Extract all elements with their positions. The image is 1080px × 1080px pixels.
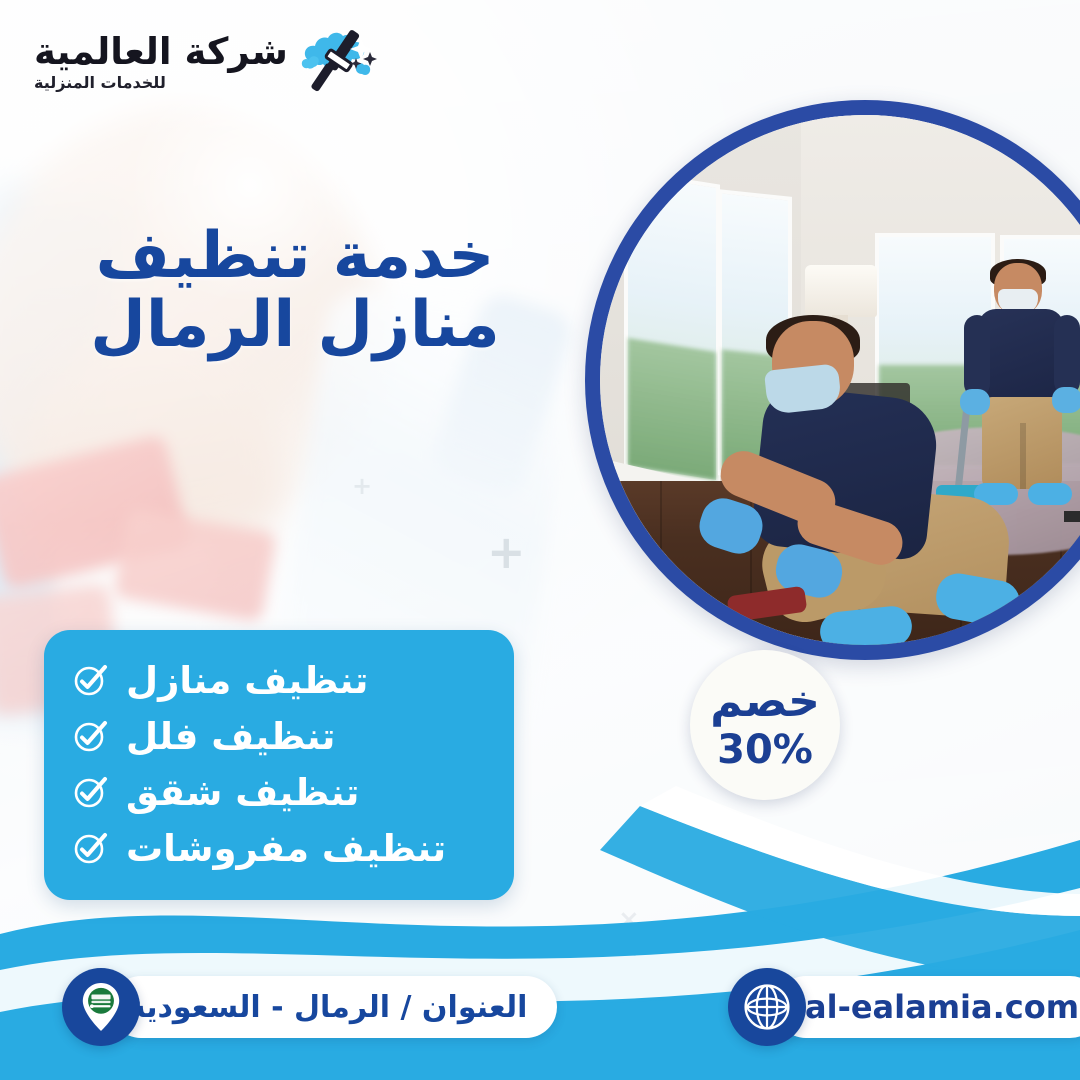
service-label: تنظيف شقق: [126, 771, 359, 814]
globe-icon: [728, 968, 806, 1046]
check-circle-icon: [72, 830, 108, 866]
service-label: تنظيف مفروشات: [126, 827, 446, 870]
website-text: al-ealamia.com: [805, 988, 1079, 1026]
decor-plus-mark: +: [487, 525, 526, 579]
logo-subtitle: للخدمات المنزلية: [34, 75, 166, 91]
headline-line-2: منازل الرمال: [85, 291, 505, 360]
check-circle-icon: [72, 774, 108, 810]
service-item: تنظيف شقق: [72, 764, 486, 820]
service-item: تنظيف فلل: [72, 708, 486, 764]
service-label: تنظيف منازل: [126, 659, 368, 702]
services-card: تنظيف منازل تنظيف فلل تنظيف شقق: [44, 630, 514, 900]
headline-line-1: خدمة تنظيف: [85, 222, 505, 291]
logo-title: شركة العالمية: [34, 33, 288, 70]
discount-label: خصم: [710, 680, 820, 724]
check-circle-icon: [72, 662, 108, 698]
decor-plus-mark-small: +: [352, 472, 372, 500]
squeegee-bubbles-icon: [298, 22, 384, 102]
address-text: العنوان / الرمال - السعودية: [128, 990, 527, 1025]
service-label: تنظيف فلل: [126, 715, 335, 758]
headline: خدمة تنظيف منازل الرمال: [85, 222, 505, 360]
saudi-flag-location-pin-icon: [62, 968, 140, 1046]
worker-kneeling: [700, 315, 1030, 645]
hero-photo-circle: [585, 100, 1080, 660]
poster-canvas: + × + × شركة العالمية للخدمات المنزلية خ…: [0, 0, 1080, 1080]
service-item: تنظيف مفروشات: [72, 820, 486, 876]
address-pill[interactable]: العنوان / الرمال - السعودية: [110, 976, 557, 1038]
service-item: تنظيف منازل: [72, 652, 486, 708]
website-pill[interactable]: al-ealamia.com: [775, 976, 1080, 1038]
check-circle-icon: [72, 718, 108, 754]
discount-value: 30%: [717, 730, 813, 770]
discount-badge: خصم 30%: [690, 650, 840, 800]
room-scene: [600, 115, 1080, 645]
company-logo[interactable]: شركة العالمية للخدمات المنزلية: [34, 22, 384, 102]
